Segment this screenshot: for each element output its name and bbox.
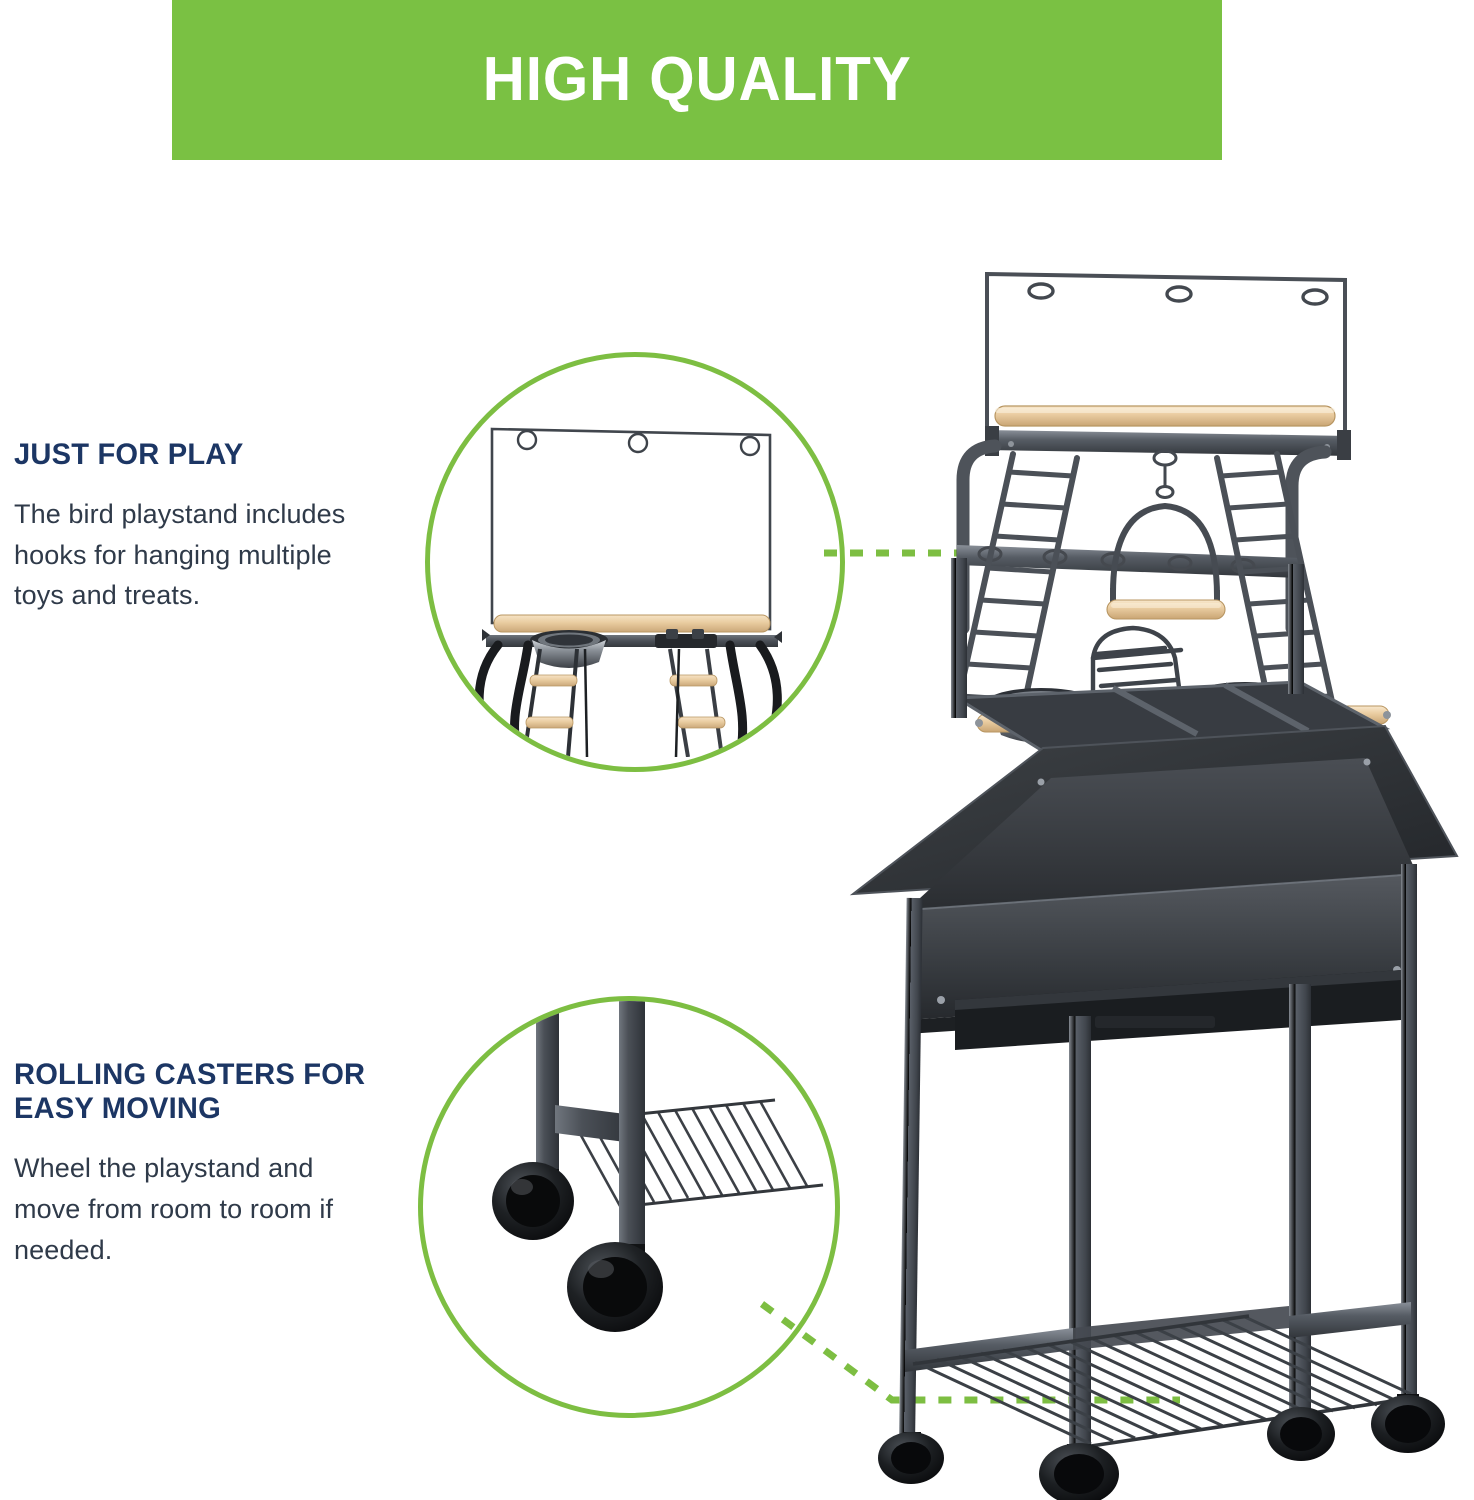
caster-wheel-back-right	[1267, 1407, 1335, 1461]
frame-leg-back	[619, 1001, 645, 1256]
top-wood-perch	[494, 615, 770, 632]
hanging-ring-icon	[1029, 284, 1053, 298]
lower-cross-rails	[905, 1302, 1411, 1372]
caster-wheel-back-left	[878, 1432, 944, 1484]
swing-wood-perch	[1107, 600, 1225, 619]
top-wood-perch	[995, 406, 1335, 426]
right-ladder	[1217, 454, 1333, 710]
hanging-ring-icon	[1167, 287, 1191, 301]
header-banner: HIGH QUALITY	[172, 0, 1222, 160]
product-image-bird-playstand	[845, 258, 1474, 1500]
feature-block-rolling-casters: ROLLING CASTERS FOR EASY MOVING Wheel th…	[14, 1058, 384, 1271]
caster-wheel-front-left	[1039, 1443, 1119, 1500]
feature-body-rolling-casters: Wheel the playstand and move from room t…	[14, 1148, 384, 1271]
swing-assembly	[1107, 451, 1225, 619]
callout-circle-hanging-hooks	[425, 352, 845, 772]
panel-hanging-rings	[1029, 284, 1327, 304]
caster-wheel-back	[567, 1242, 663, 1332]
infographic-canvas: HIGH QUALITY JUST FOR PLAY The bird play…	[0, 0, 1474, 1500]
seed-catcher-tray	[853, 726, 1457, 1050]
top-crossbeam	[985, 426, 1351, 460]
curved-legs	[479, 645, 777, 755]
feature-block-just-for-play: JUST FOR PLAY The bird playstand include…	[14, 438, 384, 616]
hanging-ring-icon	[1303, 290, 1327, 304]
swing-top-ring-icon	[1154, 451, 1176, 465]
hanging-ring-icon	[629, 434, 647, 452]
hanging-hooks-detail-illustration	[430, 357, 830, 757]
feature-heading-rolling-casters: ROLLING CASTERS FOR EASY MOVING	[14, 1058, 373, 1126]
stainless-food-bowl-left	[530, 630, 608, 668]
hanging-ring-icon	[741, 437, 759, 455]
feature-heading-just-for-play: JUST FOR PLAY	[14, 438, 373, 472]
page-title: HIGH QUALITY	[483, 49, 912, 111]
hanging-wires	[585, 649, 679, 757]
caster-wheel-front	[492, 1162, 574, 1240]
callout-circle-rolling-casters	[418, 996, 840, 1418]
hook-panel-frame	[492, 429, 770, 629]
rolling-casters-detail-illustration	[423, 1001, 825, 1403]
left-ladder	[957, 454, 1077, 710]
feature-body-just-for-play: The bird playstand includes hooks for ha…	[14, 494, 384, 616]
hanging-ring-icon	[518, 431, 536, 449]
